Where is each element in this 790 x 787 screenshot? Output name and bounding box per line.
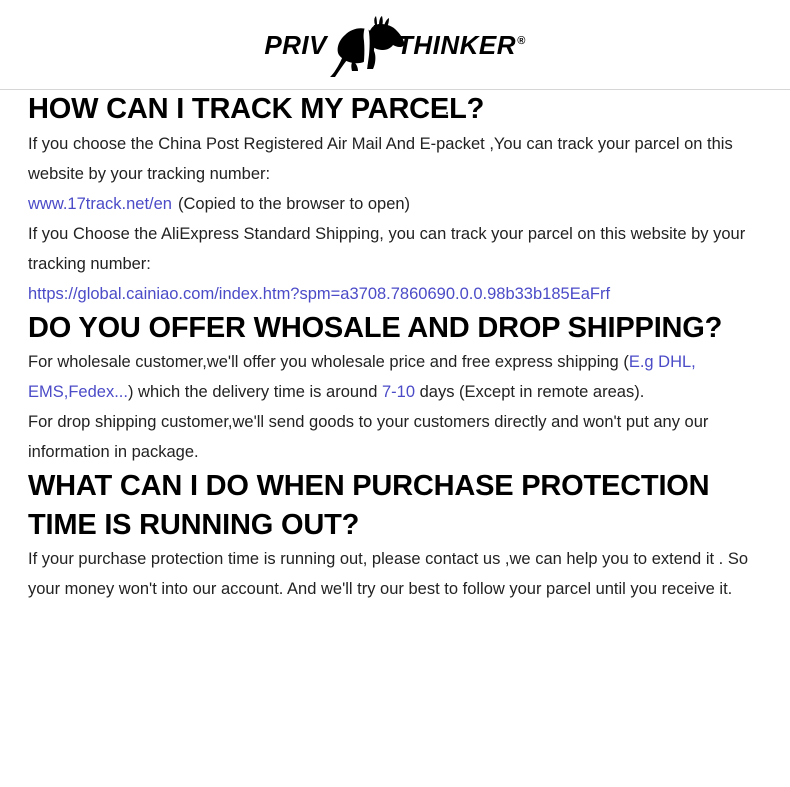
faq-answer-dropshipping: For drop shipping customer,we'll send go… xyxy=(28,407,762,467)
site-header: PRIV THINKER® xyxy=(0,0,790,90)
link-17track[interactable]: www.17track.net/en xyxy=(28,195,172,213)
faq-answer-purchase-protection: If your purchase protection time is runn… xyxy=(28,544,762,604)
faq-answer-wholesale: For wholesale customer,we'll offer you w… xyxy=(28,347,762,407)
faq-answer-track-aliexpress: If you Choose the AliExpress Standard Sh… xyxy=(28,219,762,279)
faq-content: HOW CAN I TRACK MY PARCEL? If you choose… xyxy=(0,90,790,604)
faq-link-line-cainiao: https://global.cainiao.com/index.htm?spm… xyxy=(28,279,762,309)
faq-link-line-17track: www.17track.net/en(Copied to the browser… xyxy=(28,189,762,219)
logo-word-priv: PRIV xyxy=(264,32,327,58)
link-note-17track: (Copied to the browser to open) xyxy=(178,195,410,213)
registered-trademark-icon: ® xyxy=(517,35,526,47)
logo-word-thinker: THINKER® xyxy=(397,32,526,58)
logo-word-thinker-text: THINKER xyxy=(397,30,516,60)
faq-heading-purchase-protection: WHAT CAN I DO WHEN PURCHASE PROTECTION T… xyxy=(28,467,762,544)
wholesale-text-c: days (Except in remote areas). xyxy=(415,383,644,401)
brand-logo[interactable]: PRIV THINKER® xyxy=(264,14,525,76)
stray-artifact-dot xyxy=(446,112,448,114)
wholesale-text-b: ) which the delivery time is around xyxy=(128,383,382,401)
faq-answer-track-china-post: If you choose the China Post Registered … xyxy=(28,129,762,189)
faq-heading-wholesale-dropship: DO YOU OFFER WHOSALE AND DROP SHIPPING? xyxy=(28,309,762,348)
dog-silhouette-icon xyxy=(323,15,407,77)
wholesale-text-a: For wholesale customer,we'll offer you w… xyxy=(28,353,629,371)
link-cainiao[interactable]: https://global.cainiao.com/index.htm?spm… xyxy=(28,285,610,303)
faq-heading-track-parcel: HOW CAN I TRACK MY PARCEL? xyxy=(28,90,762,129)
wholesale-delivery-days-highlight: 7-10 xyxy=(382,383,415,401)
